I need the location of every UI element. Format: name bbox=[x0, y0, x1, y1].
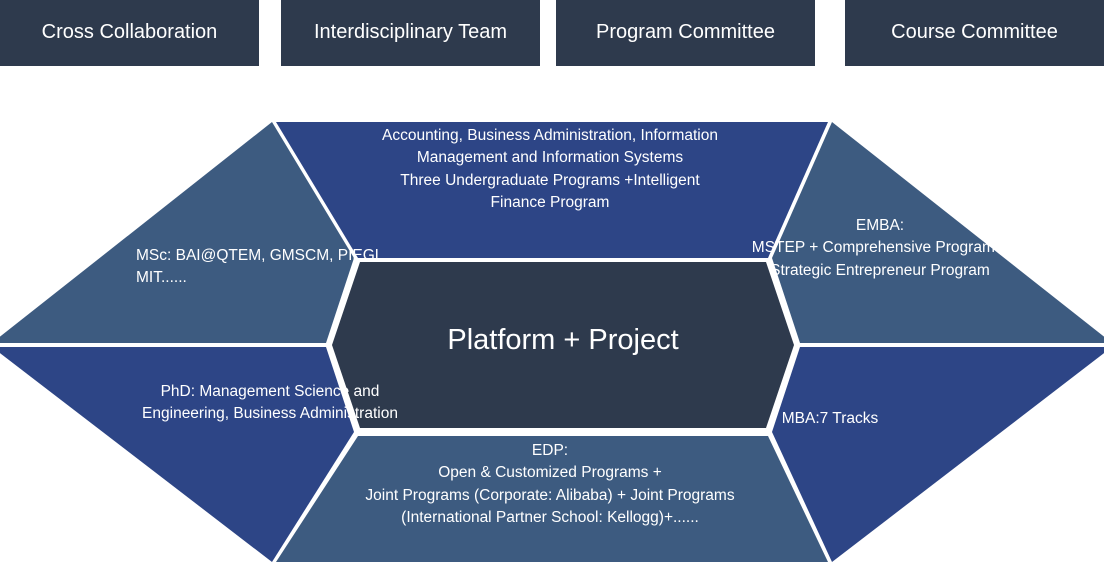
segment-shape-edp[interactable] bbox=[276, 436, 828, 562]
header-box-course-committee[interactable]: Course Committee bbox=[845, 0, 1104, 66]
header-box-label: Cross Collaboration bbox=[42, 21, 218, 45]
header-box-label: Course Committee bbox=[891, 21, 1058, 45]
hexagon-diagram-shapes bbox=[0, 100, 1104, 574]
header-box-interdisciplinary-team[interactable]: Interdisciplinary Team bbox=[281, 0, 540, 66]
header-box-cross-collaboration[interactable]: Cross Collaboration bbox=[0, 0, 259, 66]
segment-shape-undergraduate[interactable] bbox=[276, 122, 828, 258]
header-box-label: Program Committee bbox=[596, 21, 775, 45]
center-hexagon-shape[interactable] bbox=[332, 262, 794, 428]
segment-shape-emba[interactable] bbox=[772, 122, 1104, 343]
header-bar: Cross Collaboration Interdisciplinary Te… bbox=[0, 0, 1104, 70]
header-box-label: Interdisciplinary Team bbox=[314, 21, 507, 45]
segment-shape-mba[interactable] bbox=[772, 347, 1104, 562]
hexagon-diagram: Accounting, Business Administration, Inf… bbox=[0, 100, 1104, 574]
header-box-program-committee[interactable]: Program Committee bbox=[556, 0, 815, 66]
